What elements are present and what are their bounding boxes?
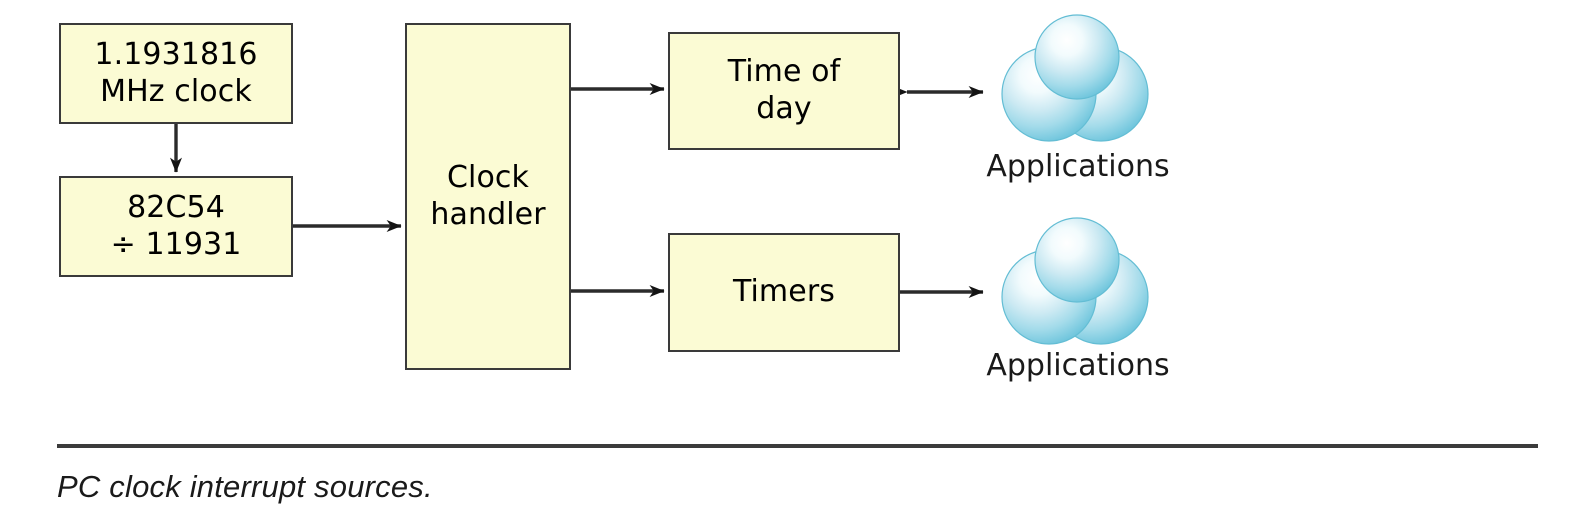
- node-clock-source: 1.1931816 MHz clock: [59, 23, 293, 124]
- figure-pc-clock-interrupt-sources: 1.1931816 MHz clock 82C54 ÷ 11931 Clock …: [0, 0, 1590, 532]
- node-time-of-day: Time of day: [668, 32, 900, 150]
- node-divider-chip: 82C54 ÷ 11931: [59, 176, 293, 277]
- node-clock-handler: Clock handler: [405, 23, 571, 370]
- cloud-three-spheres-icon-bottom: [993, 213, 1163, 349]
- cloud-three-spheres-icon-top: [993, 10, 1163, 146]
- label-applications-top: Applications: [918, 152, 1238, 182]
- sphere-top-center: [1035, 15, 1119, 99]
- label-applications-bottom: Applications: [918, 351, 1238, 381]
- figure-caption: PC clock interrupt sources.: [57, 468, 1457, 505]
- sphere-top-center: [1035, 218, 1119, 302]
- caption-divider-rule: [57, 444, 1538, 448]
- node-timers: Timers: [668, 233, 900, 352]
